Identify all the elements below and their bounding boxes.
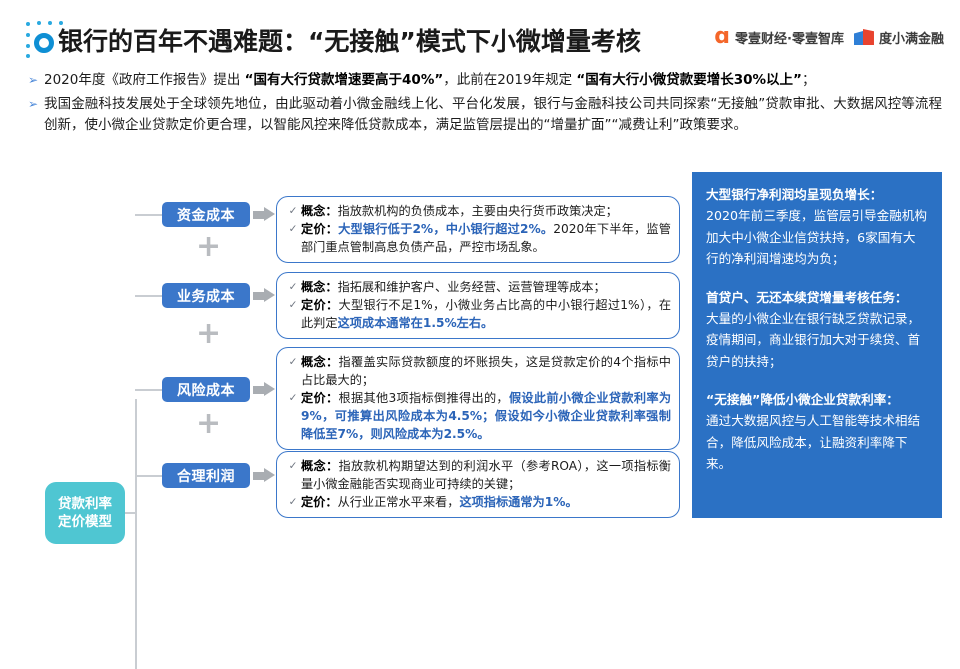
panel-spacer xyxy=(706,270,928,287)
detail-list-item: ✓定价：大型银行不足1%，小微业务占比高的中小银行超过1%），在此判定这项成本通… xyxy=(285,296,671,332)
diagram-root-node: 贷款利率 定价模型 xyxy=(45,482,125,544)
header: 银行的百年不遇难题：“无接触”模式下小微增量考核 ɑ 零壹财经·零壹智库 度小满… xyxy=(0,0,960,68)
brand-duxiaoman: 度小满金融 xyxy=(854,28,944,47)
arrow-right-icon xyxy=(253,207,275,222)
check-icon: ✓ xyxy=(285,353,301,371)
bullet-text: 2020年度《政府工作报告》提出 “国有大行贷款增速要高于40%”，此前在201… xyxy=(44,70,942,91)
detail-text: 概念：指覆盖实际贷款额度的坏账损失，这是贷款定价的4个指标中占比最大的； xyxy=(301,353,671,389)
diagram-category-2[interactable]: 业务成本 xyxy=(162,283,250,308)
bullet-marker-icon: ➢ xyxy=(22,94,44,115)
intro-bullet-item: ➢我国金融科技发展处于全球领先地位，由此驱动着小微金融线上化、平台化发展，银行与… xyxy=(22,94,942,136)
diagram-root-line2: 定价模型 xyxy=(58,513,112,531)
check-icon: ✓ xyxy=(285,457,301,475)
diagram-category-label: 合理利润 xyxy=(177,466,235,486)
detail-text: 定价：根据其他3项指标倒推得出的，假设此前小微企业贷款利率为9%，可推算出风险成… xyxy=(301,389,671,443)
check-icon: ✓ xyxy=(285,389,301,407)
detail-list-item: ✓定价：大型银行低于2%，中小银行超过2%。2020年下半年，监管部门重点管制高… xyxy=(285,220,671,256)
diagram-category-4[interactable]: 合理利润 xyxy=(162,463,250,488)
detail-list-item: ✓定价：从行业正常水平来看，这项指标通常为1%。 xyxy=(285,493,671,511)
detail-list-item: ✓定价：根据其他3项指标倒推得出的，假设此前小微企业贷款利率为9%，可推算出风险… xyxy=(285,389,671,443)
connector-branch xyxy=(135,475,162,477)
brand-bar: ɑ 零壹财经·零壹智库 度小满金融 xyxy=(714,26,944,48)
pricing-model-diagram: 贷款利率 定价模型 资金成本+✓概念：指放款机构的负债成本，主要由央行货币政策决… xyxy=(0,185,690,525)
detail-text: 定价：大型银行低于2%，中小银行超过2%。2020年下半年，监管部门重点管制高息… xyxy=(301,220,671,256)
panel-spacer xyxy=(706,372,928,389)
check-icon: ✓ xyxy=(285,278,301,296)
plus-icon: + xyxy=(196,237,218,259)
arrow-right-icon xyxy=(253,288,275,303)
detail-list-item: ✓概念：指放款机构期望达到的利润水平（参考ROA），这一项指标衡量小微金融能否实… xyxy=(285,457,671,493)
connector-stub xyxy=(125,512,136,514)
plus-icon: + xyxy=(196,324,218,346)
detail-list-item: ✓概念：指覆盖实际贷款额度的坏账损失，这是贷款定价的4个指标中占比最大的； xyxy=(285,353,671,389)
brand-lingyi: ɑ 零壹财经·零壹智库 xyxy=(714,26,844,48)
detail-text: 概念：指拓展和维护客户、业务经营、运营管理等成本； xyxy=(301,278,671,296)
bullet-marker-icon: ➢ xyxy=(22,70,44,91)
detail-list-item: ✓概念：指放款机构的负债成本，主要由央行货币政策决定； xyxy=(285,202,671,220)
intro-bullet-item: ➢2020年度《政府工作报告》提出 “国有大行贷款增速要高于40%”，此前在20… xyxy=(22,70,942,91)
diagram-root-line1: 贷款利率 xyxy=(58,495,112,513)
bullet-text: 我国金融科技发展处于全球领先地位，由此驱动着小微金融线上化、平台化发展，银行与金… xyxy=(44,94,942,136)
panel-block-body-1: 2020年前三季度，监管层引导金融机构加大中小微企业信贷扶持，6家国有大行的净利… xyxy=(706,205,928,270)
dumiaoman-icon xyxy=(854,29,874,45)
detail-text: 概念：指放款机构的负债成本，主要由央行货币政策决定； xyxy=(301,202,671,220)
diagram-category-label: 资金成本 xyxy=(177,205,235,225)
check-icon: ✓ xyxy=(285,202,301,220)
diagram-category-label: 风险成本 xyxy=(177,380,235,400)
takeaways-panel: 大型银行净利润均呈现负增长：2020年前三季度，监管层引导金融机构加大中小微企业… xyxy=(692,172,942,518)
alpha-icon: ɑ xyxy=(714,26,730,48)
diagram-category-label: 业务成本 xyxy=(177,286,235,306)
detail-text: 概念：指放款机构期望达到的利润水平（参考ROA），这一项指标衡量小微金融能否实现… xyxy=(301,457,671,493)
panel-block-body-3: 通过大数据风控与人工智能等技术相结合，降低风险成本，让融资利率降下来。 xyxy=(706,410,928,475)
connector-branch xyxy=(135,214,162,216)
connector-branch xyxy=(135,389,162,391)
panel-block-body-2: 大量的小微企业在银行缺乏贷款记录，疫情期间，商业银行加大对于续贷、首贷户的扶持； xyxy=(706,308,928,373)
plus-icon: + xyxy=(196,414,218,436)
brand-duxiaoman-label: 度小满金融 xyxy=(879,28,944,47)
diagram-detail-card-2: ✓概念：指拓展和维护客户、业务经营、运营管理等成本；✓定价：大型银行不足1%，小… xyxy=(276,272,680,339)
diagram-detail-card-1: ✓概念：指放款机构的负债成本，主要由央行货币政策决定；✓定价：大型银行低于2%，… xyxy=(276,196,680,263)
page-title: 银行的百年不遇难题：“无接触”模式下小微增量考核 xyxy=(58,22,641,58)
diagram-detail-card-3: ✓概念：指覆盖实际贷款额度的坏账损失，这是贷款定价的4个指标中占比最大的；✓定价… xyxy=(276,347,680,450)
detail-list-item: ✓概念：指拓展和维护客户、业务经营、运营管理等成本； xyxy=(285,278,671,296)
brand-lingyi-label: 零壹财经·零壹智库 xyxy=(735,28,844,47)
arrow-right-icon xyxy=(253,468,275,483)
panel-block-heading-1: 大型银行净利润均呈现负增长： xyxy=(706,184,928,205)
intro-bullet-list: ➢2020年度《政府工作报告》提出 “国有大行贷款增速要高于40%”，此前在20… xyxy=(22,70,942,139)
check-icon: ✓ xyxy=(285,493,301,511)
diagram-category-1[interactable]: 资金成本 xyxy=(162,202,250,227)
diagram-detail-card-4: ✓概念：指放款机构期望达到的利润水平（参考ROA），这一项指标衡量小微金融能否实… xyxy=(276,451,680,518)
detail-text: 定价：大型银行不足1%，小微业务占比高的中小银行超过1%），在此判定这项成本通常… xyxy=(301,296,671,332)
check-icon: ✓ xyxy=(285,296,301,314)
diagram-category-3[interactable]: 风险成本 xyxy=(162,377,250,402)
connector-branch xyxy=(135,295,162,297)
panel-block-heading-3: “无接触”降低小微企业贷款利率： xyxy=(706,389,928,410)
arrow-right-icon xyxy=(253,382,275,397)
detail-text: 定价：从行业正常水平来看，这项指标通常为1%。 xyxy=(301,493,671,511)
slide-page: 银行的百年不遇难题：“无接触”模式下小微增量考核 ɑ 零壹财经·零壹智库 度小满… xyxy=(0,0,960,540)
panel-block-heading-2: 首贷户、无还本续贷增量考核任务： xyxy=(706,287,928,308)
logo-ring xyxy=(34,33,54,53)
check-icon: ✓ xyxy=(285,220,301,238)
connector-trunk xyxy=(135,399,137,669)
